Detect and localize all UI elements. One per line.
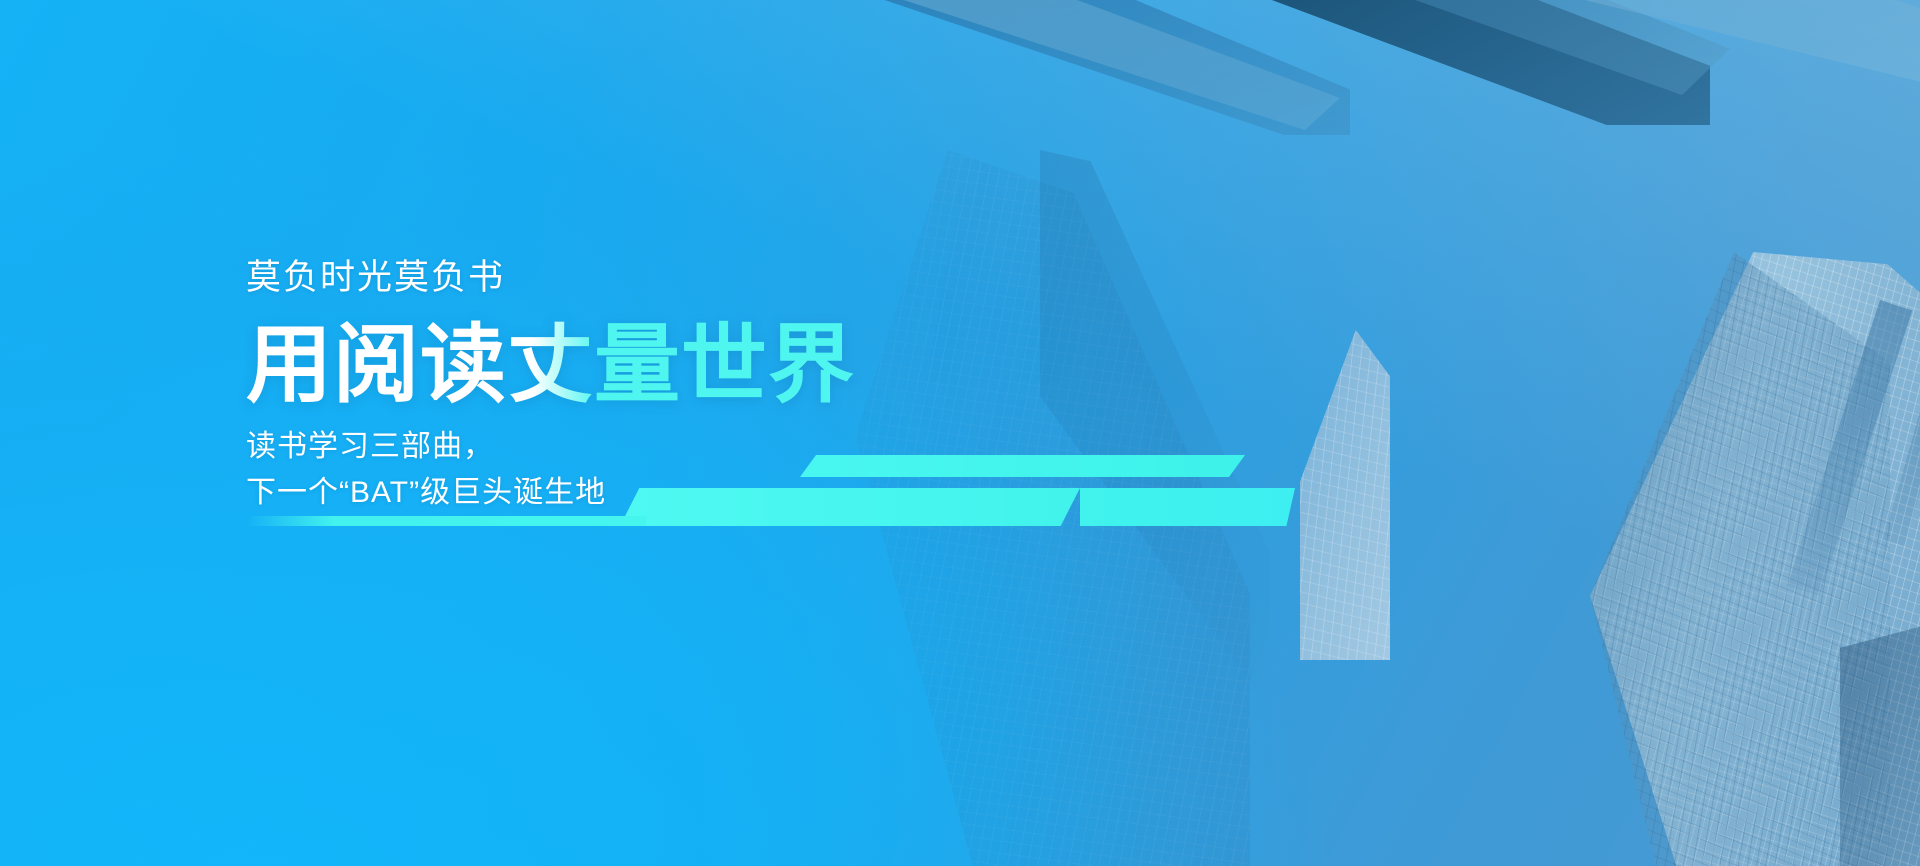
hero-subtitle-line-1: 读书学习三部曲， bbox=[246, 424, 855, 470]
hero-kicker: 莫负时光莫负书 bbox=[246, 256, 855, 300]
accent-stripe-top bbox=[800, 455, 1245, 477]
accent-stripe-underline bbox=[246, 516, 646, 526]
hero-subtitle: 读书学习三部曲， 下一个“BAT”级巨头诞生地 bbox=[246, 424, 855, 515]
hero-headline: 用阅读丈量世界 bbox=[246, 320, 855, 410]
hero-banner: 莫负时光莫负书 用阅读丈量世界 读书学习三部曲， 下一个“BAT”级巨头诞生地 bbox=[0, 0, 1920, 866]
accent-stripe-main-tail bbox=[1080, 488, 1295, 526]
hero-copy-block: 莫负时光莫负书 用阅读丈量世界 读书学习三部曲， 下一个“BAT”级巨头诞生地 bbox=[246, 256, 855, 515]
hero-subtitle-line-2: 下一个“BAT”级巨头诞生地 bbox=[246, 470, 855, 516]
